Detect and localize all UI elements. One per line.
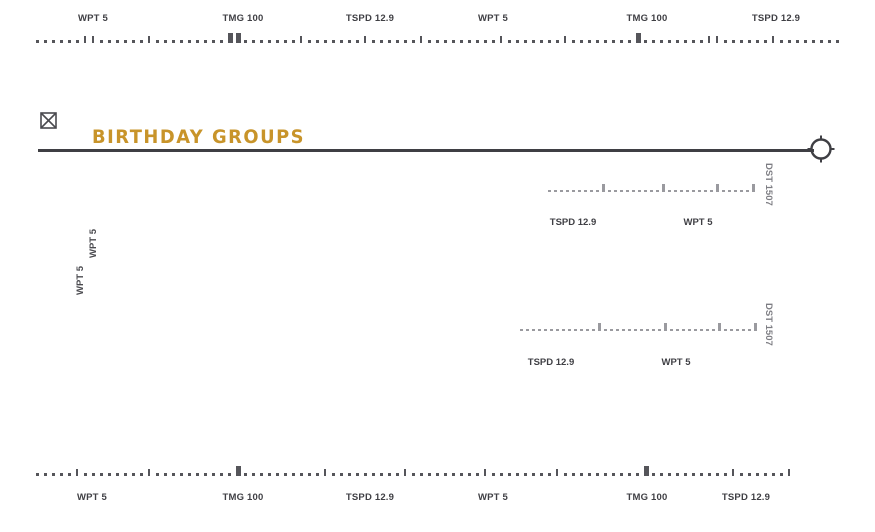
ruler-tick [788,469,790,476]
scale-tick [548,190,551,193]
ruler-tick [532,40,535,43]
ruler-tick [820,40,823,43]
scale-tick [590,190,593,193]
scale-tick [694,329,697,332]
ruler-tick [404,469,406,476]
ruler-tick [588,40,591,43]
scale-label: WPT 5 [661,357,690,368]
scale-tick [712,329,715,332]
ruler-tick [44,40,47,43]
ruler-tick [668,473,671,476]
ruler-tick [332,473,335,476]
scale-tick [752,184,755,192]
scale-tick [566,190,569,193]
ruler-tick [772,36,774,43]
ruler-tick [188,40,191,43]
ruler-tick [556,469,558,476]
ruler-tick [356,40,359,43]
ruler-tick [596,473,599,476]
ruler-tick [740,473,743,476]
ruler-tick [628,473,631,476]
ruler-tick [548,40,551,43]
dst-label: DST 1507 [763,303,774,346]
scale-tick [628,329,631,332]
scale-tick [616,329,619,332]
ruler-tick [540,40,543,43]
scale-tick [632,190,635,193]
ruler-tick [44,473,47,476]
scale-tick [604,329,607,332]
ruler-tick [700,473,703,476]
ruler-tick [612,473,615,476]
ruler-tick [708,36,710,43]
ruler-tick [268,473,271,476]
ruler-tick [636,33,641,43]
ruler-label: WPT 5 [78,13,108,24]
ruler-tick [468,40,471,43]
ruler-tick [332,40,335,43]
ruler-tick [268,40,271,43]
ruler-tick [324,40,327,43]
scale-tick [676,329,679,332]
ruler-label: TSPD 12.9 [346,13,394,24]
scale-tick [622,329,625,332]
scale-tick [652,329,655,332]
ruler-tick [364,473,367,476]
ruler-tick [308,40,311,43]
ruler-tick [652,473,655,476]
ruler-tick [748,473,751,476]
scale-tick [554,190,557,193]
ruler-tick [340,40,343,43]
ruler-tick [500,36,502,43]
title-underline-rule [38,149,814,152]
ruler-tick [612,40,615,43]
ruler-tick [204,473,207,476]
ruler-tick [388,473,391,476]
ruler-tick [140,473,143,476]
ruler-tick [252,473,255,476]
ruler-tick [396,473,399,476]
ruler-tick [356,473,359,476]
ruler-tick [756,40,759,43]
scale-tick [754,323,757,331]
ruler-tick [212,473,215,476]
ruler-tick [804,40,807,43]
ruler-tick [492,40,495,43]
ruler-tick [340,473,343,476]
scale-tick [608,190,611,193]
ruler-tick [564,36,566,43]
ruler-tick [156,473,159,476]
ruler-tick [52,473,55,476]
ruler-tick [52,40,55,43]
scale-tick [614,190,617,193]
ruler-tick [764,473,767,476]
ruler-tick [372,40,375,43]
ruler-tick [116,40,119,43]
ruler-tick [236,466,241,476]
ruler-tick [740,40,743,43]
ruler-tick [572,40,575,43]
header: BIRTHDAY GROUPS [0,52,875,108]
ruler-tick [220,473,223,476]
ruler-tick [580,40,583,43]
ruler-tick [412,40,415,43]
ruler-tick [452,40,455,43]
ruler-tick [836,40,839,43]
ruler-label: WPT 5 [478,492,508,503]
scale-tick [572,190,575,193]
ruler-tick [484,40,487,43]
ruler-tick [420,36,422,43]
ruler-tick [620,473,623,476]
scale-tick [544,329,547,332]
scale-tick [574,329,577,332]
scale-tick [568,329,571,332]
ruler-tick [444,473,447,476]
scale-tick [526,329,529,332]
ruler-label: TMG 100 [627,13,668,24]
scale-label: TSPD 12.9 [528,357,574,368]
ruler-tick [60,40,63,43]
scale-tick [682,329,685,332]
ruler-tick [452,473,455,476]
scale-tick [532,329,535,332]
ruler-tick [756,473,759,476]
scale-tick [736,329,739,332]
ruler-tick [108,473,111,476]
ruler-tick [796,40,799,43]
ruler-tick [484,469,486,476]
scale-label: WPT 5 [683,217,712,228]
ruler-tick [212,40,215,43]
scale-tick [662,184,665,192]
ruler-tick [476,40,479,43]
ruler-tick [460,473,463,476]
scale-tick [748,329,751,332]
scale-tick [718,323,721,331]
ruler-tick [316,473,319,476]
ruler-tick [676,473,679,476]
ruler-label: WPT 5 [77,492,107,503]
ruler-tick [180,473,183,476]
scale-tick [706,329,709,332]
page-title: BIRTHDAY GROUPS [92,126,305,148]
ruler-tick [780,40,783,43]
ruler-tick [412,473,415,476]
ruler-tick [564,473,567,476]
ruler-tick [428,40,431,43]
scale-tick [586,329,589,332]
ruler-tick [92,36,94,43]
ruler-tick [324,469,326,476]
ruler-tick [812,40,815,43]
ruler-tick [684,40,687,43]
ruler-tick [636,473,639,476]
ruler-tick [644,466,649,476]
ruler-tick [620,40,623,43]
scale-tick [560,190,563,193]
ruler-tick [780,473,783,476]
ruler-tick [132,473,135,476]
ruler-tick [668,40,671,43]
scale-tick [650,190,653,193]
ruler-tick [684,473,687,476]
ruler-tick [732,40,735,43]
ruler-label: TSPD 12.9 [346,492,394,503]
ruler-tick [364,36,366,43]
ruler-tick [300,36,302,43]
ruler-tick [236,33,241,43]
scale-dot-track [0,182,875,192]
scale-tick [638,190,641,193]
ruler-tick [508,40,511,43]
ruler-tick [772,473,775,476]
ruler-tick [60,473,63,476]
ruler-tick [156,40,159,43]
ruler-label: TMG 100 [627,492,668,503]
ruler-tick [228,473,231,476]
ruler-tick [348,40,351,43]
ruler-tick [172,40,175,43]
scale-tick [646,329,649,332]
ruler-tick [532,473,535,476]
scale-tick [658,329,661,332]
ruler-tick [292,40,295,43]
ruler-tick [676,40,679,43]
ruler-tick [100,473,103,476]
ruler-tick [380,473,383,476]
ruler-label: TSPD 12.9 [722,492,770,503]
scale-tick [734,190,737,193]
ruler-tick [764,40,767,43]
ruler-tick [300,473,303,476]
ruler-tick [580,473,583,476]
scale-tick [724,329,727,332]
scale-tick [580,329,583,332]
ruler-tick [68,40,71,43]
scale-tick [640,329,643,332]
ruler-label: WPT 5 [478,13,508,24]
scale-tick [584,190,587,193]
ruler-tick [204,40,207,43]
scale-tick [670,329,673,332]
ruler-tick [556,40,559,43]
ruler-tick [380,40,383,43]
scale-tick [664,323,667,331]
ruler-tick [604,473,607,476]
ruler-label: TMG 100 [223,492,264,503]
ruler-tick [116,473,119,476]
scale-tick [716,184,719,192]
scale-tick [520,329,523,332]
scale-tick [656,190,659,193]
scale-tick [602,184,605,192]
scale-tick [578,190,581,193]
scale-tick [562,329,565,332]
ruler-tick [420,473,423,476]
ruler-tick [716,473,719,476]
ruler-tick [500,473,503,476]
ruler-tick [460,40,463,43]
ruler-tick [84,473,87,476]
scale-tick [592,329,595,332]
top-ruler [0,32,875,43]
scale-tick [710,190,713,193]
ruler-tick [36,40,39,43]
ruler-tick [196,40,199,43]
ruler-tick [516,40,519,43]
ruler-tick [660,40,663,43]
ruler-tick [148,36,150,43]
ruler-tick [596,40,599,43]
scale-tick [746,190,749,193]
scale-tick [620,190,623,193]
ruler-tick [76,469,78,476]
ruler-tick [828,40,831,43]
ruler-tick [372,473,375,476]
ruler-tick [732,469,734,476]
ruler-tick [244,40,247,43]
scale-tick [742,329,745,332]
ruler-tick [124,473,127,476]
scale-tick [556,329,559,332]
ruler-tick [284,473,287,476]
ruler-tick [404,40,407,43]
scale-tick [634,329,637,332]
scale-tick [730,329,733,332]
ruler-tick [524,40,527,43]
ruler-tick [292,473,295,476]
ruler-tick [276,473,279,476]
scale-tick [550,329,553,332]
scale-tick [692,190,695,193]
ruler-tick [652,40,655,43]
ruler-tick [276,40,279,43]
scale-tick [598,323,601,331]
ruler-tick [724,40,727,43]
ruler-tick [540,473,543,476]
left-axis-label: WPT 5 [75,266,86,295]
ruler-tick [444,40,447,43]
ruler-label: TSPD 12.9 [752,13,800,24]
ruler-tick [260,40,263,43]
ruler-tick [252,40,255,43]
ruler-tick [468,473,471,476]
ruler-tick [220,40,223,43]
ruler-tick [244,473,247,476]
ruler-tick [348,473,351,476]
ruler-tick [588,473,591,476]
ruler-tick [84,36,86,43]
ruler-tick [36,473,39,476]
scale-tick [700,329,703,332]
bottom-ruler [0,465,875,476]
target-crosshair-icon[interactable] [806,134,836,164]
ruler-tick [436,40,439,43]
ruler-tick [228,33,233,43]
ruler-tick [428,473,431,476]
ruler-tick [284,40,287,43]
ruler-tick [476,473,479,476]
scale-tick [740,190,743,193]
ruler-tick [604,40,607,43]
scale-tick [626,190,629,193]
scale-dot-track [0,321,875,331]
ruler-tick [748,40,751,43]
ruler-tick [660,473,663,476]
ruler-tick [436,473,439,476]
scale-tick [538,329,541,332]
ruler-tick [548,473,551,476]
ruler-tick [148,469,150,476]
ruler-tick [164,473,167,476]
ruler-tick [524,473,527,476]
ruler-tick [172,473,175,476]
crossed-box-icon [40,112,57,129]
ruler-tick [316,40,319,43]
diagram-canvas: WPT 5TMG 100TSPD 12.9WPT 5TMG 100TSPD 12… [0,0,875,532]
scale-tick [680,190,683,193]
ruler-tick [196,473,199,476]
scale-tick [728,190,731,193]
ruler-tick [164,40,167,43]
ruler-tick [692,473,695,476]
ruler-tick [68,473,71,476]
scale-tick [668,190,671,193]
ruler-tick [188,473,191,476]
ruler-tick [388,40,391,43]
scale-tick [722,190,725,193]
ruler-tick [180,40,183,43]
ruler-tick [628,40,631,43]
ruler-tick [132,40,135,43]
ruler-tick [492,473,495,476]
scale-tick [686,190,689,193]
scale-tick [596,190,599,193]
ruler-tick [724,473,727,476]
scale-tick [704,190,707,193]
ruler-tick [788,40,791,43]
ruler-tick [508,473,511,476]
scale-tick [688,329,691,332]
ruler-tick [396,40,399,43]
ruler-tick [700,40,703,43]
scale-label: TSPD 12.9 [550,217,596,228]
ruler-tick [76,40,79,43]
dst-label: DST 1507 [763,163,774,206]
ruler-tick [108,40,111,43]
left-axis-label: WPT 5 [88,229,99,258]
ruler-tick [644,40,647,43]
scale-tick [698,190,701,193]
ruler-tick [708,473,711,476]
scale-tick [674,190,677,193]
ruler-tick [140,40,143,43]
ruler-tick [100,40,103,43]
ruler-tick [124,40,127,43]
ruler-tick [308,473,311,476]
scale-tick [610,329,613,332]
ruler-tick [692,40,695,43]
ruler-tick [516,473,519,476]
ruler-tick [92,473,95,476]
ruler-tick [716,36,718,43]
ruler-tick [260,473,263,476]
ruler-label: TMG 100 [223,13,264,24]
scale-tick [644,190,647,193]
